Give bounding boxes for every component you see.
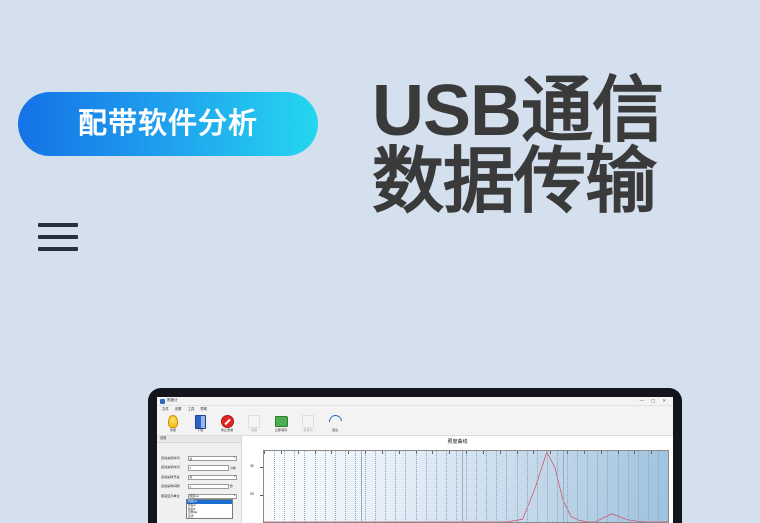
axis-tick <box>416 451 417 454</box>
chevron-down-icon: ▾ <box>234 476 235 479</box>
field-label: 照度显示单位 <box>161 495 186 498</box>
app-icon <box>160 399 165 404</box>
grid-line <box>365 451 366 522</box>
grid-line <box>375 451 376 522</box>
auto-sampling-interval-input[interactable]: 1 <box>188 484 229 489</box>
page-title-line-1: USB通信 <box>372 76 752 147</box>
grid-line <box>274 451 275 522</box>
badge-label: 配带软件分析 <box>78 110 258 139</box>
field-value: 关 <box>190 475 193 479</box>
grid-line <box>547 451 548 522</box>
grid-line <box>426 451 427 522</box>
grid-line <box>325 451 326 522</box>
auto-power-off-switch-select[interactable]: 关 ▾ <box>188 456 238 461</box>
toolbar-label: 下载 <box>197 429 203 432</box>
grid-line <box>567 451 568 522</box>
hamburger-icon[interactable] <box>38 223 78 251</box>
axis-tick <box>634 451 635 454</box>
software-analysis-badge: 配带软件分析 <box>18 92 318 156</box>
toolbar: 测量 下载 停止测量 清除 立即保存 另存为 <box>157 413 673 436</box>
field-value: 1 <box>190 466 192 470</box>
grid-line <box>466 451 467 522</box>
grid-line <box>446 451 447 522</box>
field-label: 自动采样间隔 <box>161 485 186 488</box>
illuminance-unit-dropdown-list[interactable]: 照度lux 照度fc 色温K 显色Ra 蓝光 <box>186 499 233 519</box>
field-value: 关 <box>190 457 193 461</box>
field-auto-sampling-switch: 自动采样开关 关 ▾ <box>161 475 237 480</box>
field-label: 自动关机时间 <box>161 466 186 469</box>
grid-line <box>587 451 588 522</box>
toolbar-label: 清除 <box>251 429 257 432</box>
grid-line <box>436 451 437 522</box>
grid-icon <box>302 415 315 428</box>
toolbar-button-stop-measure[interactable]: 停止测量 <box>217 415 237 432</box>
illuminance-chart: 照度曲线 3025 <box>242 436 673 523</box>
axis-tick <box>264 451 265 454</box>
stop-icon <box>221 415 234 428</box>
axis-tick <box>331 451 332 454</box>
axis-tick <box>483 451 484 454</box>
axis-tick <box>382 451 383 454</box>
illuminance-unit-select[interactable]: 照度lux ▾ <box>188 494 238 499</box>
axis-tick <box>315 451 316 454</box>
window-body: 设置 自动关机时间 关 ▾ 自动关机时间 1 分钟 <box>157 436 673 523</box>
field-label: 自动关机时间 <box>161 457 186 460</box>
y-axis-tick-label: 30 <box>250 465 254 468</box>
y-axis-tick <box>260 467 263 468</box>
hamburger-line <box>38 223 78 227</box>
grid-line <box>355 451 356 522</box>
grid-line <box>577 451 578 522</box>
axis-tick <box>550 451 551 454</box>
grid-line <box>557 451 558 522</box>
window-title-bar: 照度计 — ▢ ✕ <box>157 397 673 406</box>
plot-area <box>263 450 669 523</box>
axis-tick <box>449 451 450 454</box>
axis-tick <box>365 451 366 454</box>
axis-tick <box>298 451 299 454</box>
grid-line <box>638 451 639 522</box>
toolbar-button-save-as[interactable]: 另存为 <box>298 415 318 432</box>
grid-line <box>486 451 487 522</box>
field-value: 照度lux <box>190 494 199 498</box>
page-title-line-2: 数据传输 <box>372 147 752 218</box>
plot-area-wrapper: 3025 <box>263 450 669 523</box>
grid-line <box>284 451 285 522</box>
grid-line <box>527 451 528 522</box>
grid-icon <box>248 415 261 428</box>
grid-line <box>395 451 396 522</box>
field-value: 1 <box>190 485 192 489</box>
grid-line <box>315 451 316 522</box>
chevron-down-icon: ▾ <box>234 457 235 460</box>
toolbar-button-exit[interactable]: 退出 <box>325 415 345 432</box>
field-label: 自动采样开关 <box>161 476 186 479</box>
y-axis-tick-label: 25 <box>250 493 254 496</box>
grid-line <box>304 451 305 522</box>
chevron-down-icon: ▾ <box>234 495 235 498</box>
axis-tick <box>584 451 585 454</box>
axis-tick <box>601 451 602 454</box>
folder-save-icon <box>275 415 288 428</box>
toolbar-label: 测量 <box>170 429 176 432</box>
grid-line <box>335 451 336 522</box>
hamburger-line <box>38 247 78 251</box>
field-unit: 秒 <box>230 485 237 488</box>
field-illuminance-unit: 照度显示单位 照度lux ▾ 照度lux 照度fc 色温K 显色Ra 蓝光 <box>161 494 237 499</box>
axis-tick <box>399 451 400 454</box>
field-auto-power-off-time: 自动关机时间 1 分钟 <box>161 465 237 470</box>
grid-line <box>597 451 598 522</box>
window-controls: — ▢ ✕ <box>640 399 670 403</box>
axis-tick <box>432 451 433 454</box>
toolbar-button-download[interactable]: 下载 <box>190 415 210 432</box>
toolbar-button-clear[interactable]: 清除 <box>244 415 264 432</box>
grid-line <box>496 451 497 522</box>
book-icon <box>194 415 207 428</box>
toolbar-label: 另存为 <box>303 429 312 432</box>
field-unit: 分钟 <box>230 467 237 470</box>
axis-tick <box>533 451 534 454</box>
grid-line <box>628 451 629 522</box>
grid-line-major <box>563 451 564 522</box>
grid-line <box>607 451 608 522</box>
axis-tick <box>281 451 282 454</box>
laptop-mockup: 照度计 — ▢ ✕ 文件 设置 工具 帮助 测量 下载 <box>148 388 682 523</box>
menu-item-tools[interactable]: 工具 <box>188 408 195 411</box>
axis-tick <box>517 451 518 454</box>
menu-item-file[interactable]: 文件 <box>162 408 169 411</box>
dropdown-option[interactable]: 蓝光 <box>187 514 232 518</box>
grid-line <box>537 451 538 522</box>
axis-tick <box>618 451 619 454</box>
grid-line <box>456 451 457 522</box>
close-icon[interactable]: ✕ <box>662 399 666 403</box>
minimize-icon[interactable]: — <box>640 399 644 403</box>
axis-tick <box>567 451 568 454</box>
grid-line <box>517 451 518 522</box>
field-auto-power-off-switch: 自动关机时间 关 ▾ <box>161 456 237 461</box>
menu-item-settings[interactable]: 设置 <box>175 408 182 411</box>
grid-line <box>416 451 417 522</box>
axis-tick <box>348 451 349 454</box>
hamburger-line <box>38 235 78 239</box>
grid-line-major <box>462 451 463 522</box>
menu-bar: 文件 设置 工具 帮助 <box>157 406 673 413</box>
field-auto-sampling-interval: 自动采样间隔 1 秒 <box>161 484 237 489</box>
maximize-icon[interactable]: ▢ <box>651 399 655 403</box>
arc-icon <box>329 415 342 428</box>
toolbar-button-measure[interactable]: 测量 <box>163 415 183 432</box>
grid-line <box>476 451 477 522</box>
settings-fields: 自动关机时间 关 ▾ 自动关机时间 1 分钟 自 <box>157 443 241 499</box>
grid-line <box>506 451 507 522</box>
toolbar-button-save-now[interactable]: 立即保存 <box>271 415 291 432</box>
menu-item-help[interactable]: 帮助 <box>200 408 207 411</box>
lightbulb-icon <box>167 415 180 428</box>
toolbar-label: 立即保存 <box>275 429 287 432</box>
grid-line <box>385 451 386 522</box>
axis-tick <box>668 451 669 454</box>
chart-title: 照度曲线 <box>242 436 673 445</box>
toolbar-label: 停止测量 <box>221 429 233 432</box>
grid-line <box>618 451 619 522</box>
grid-line <box>658 451 659 522</box>
axis-tick <box>651 451 652 454</box>
window-title: 照度计 <box>167 399 178 403</box>
grid-line <box>405 451 406 522</box>
grid-line-major <box>361 451 362 522</box>
y-axis-tick <box>260 495 263 496</box>
auto-power-off-time-input[interactable]: 1 <box>188 465 229 470</box>
page-title: USB通信 数据传输 <box>372 76 752 219</box>
settings-panel: 设置 自动关机时间 关 ▾ 自动关机时间 1 分钟 <box>157 436 242 523</box>
axis-tick <box>500 451 501 454</box>
grid-line <box>345 451 346 522</box>
grid-line <box>648 451 649 522</box>
axis-tick <box>466 451 467 454</box>
toolbar-label: 退出 <box>332 429 338 432</box>
grid-line <box>294 451 295 522</box>
app-window: 照度计 — ▢ ✕ 文件 设置 工具 帮助 测量 下载 <box>157 397 673 523</box>
settings-panel-header: 设置 <box>157 436 241 443</box>
auto-sampling-switch-select[interactable]: 关 ▾ <box>188 475 238 480</box>
